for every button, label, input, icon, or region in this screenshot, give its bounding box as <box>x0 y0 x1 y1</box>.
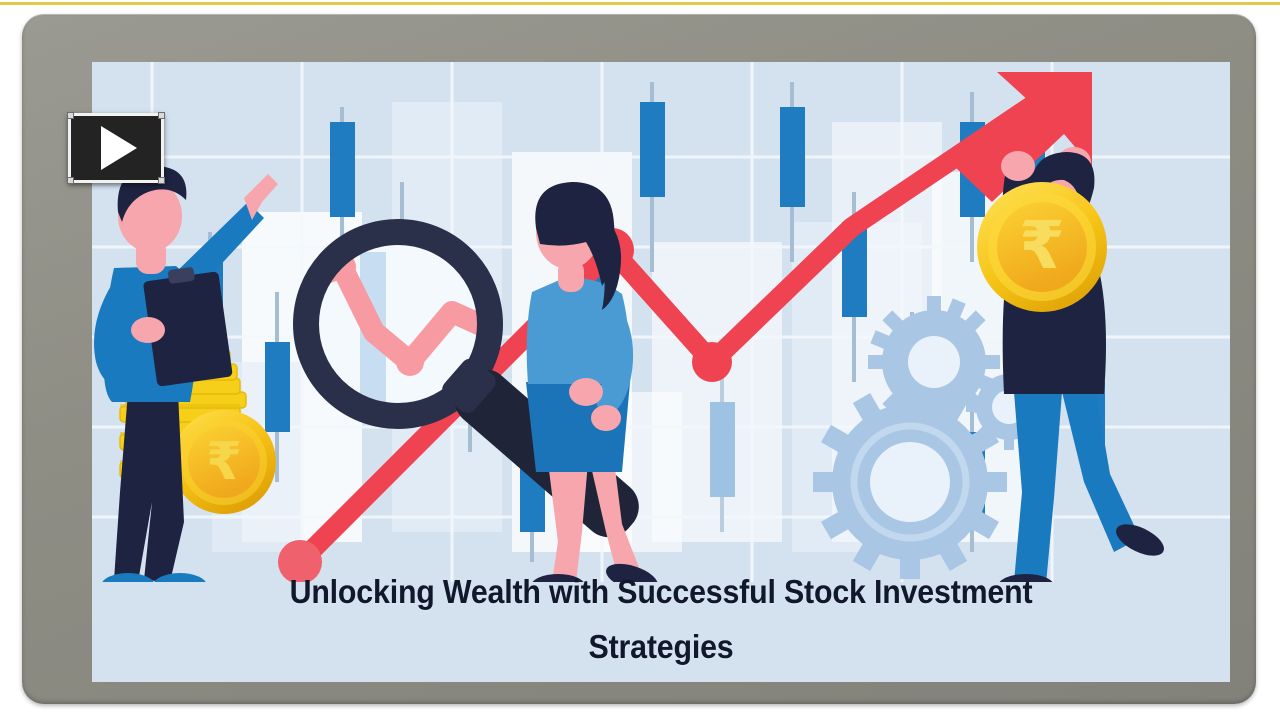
play-triangle-icon <box>101 126 137 170</box>
svg-text:₹: ₹ <box>206 432 242 492</box>
page-root: ₹ <box>0 0 1280 720</box>
rupee-coin-front: ₹ <box>172 410 276 514</box>
slide-title: Unlocking Wealth with Successful Stock I… <box>138 565 1185 674</box>
selection-handle-bottom-left[interactable] <box>67 177 74 184</box>
selection-handle-top-left[interactable] <box>67 112 74 119</box>
top-gold-rule <box>0 2 1280 5</box>
video-player-frame: ₹ <box>22 14 1256 704</box>
selection-handle-top-right[interactable] <box>158 112 165 119</box>
rupee-coin-raised: ₹ <box>977 182 1107 312</box>
play-button[interactable] <box>68 113 164 183</box>
svg-text:₹: ₹ <box>1019 207 1065 284</box>
selection-handle-bottom-right[interactable] <box>158 177 165 184</box>
slide-stage: ₹ <box>92 62 1230 682</box>
